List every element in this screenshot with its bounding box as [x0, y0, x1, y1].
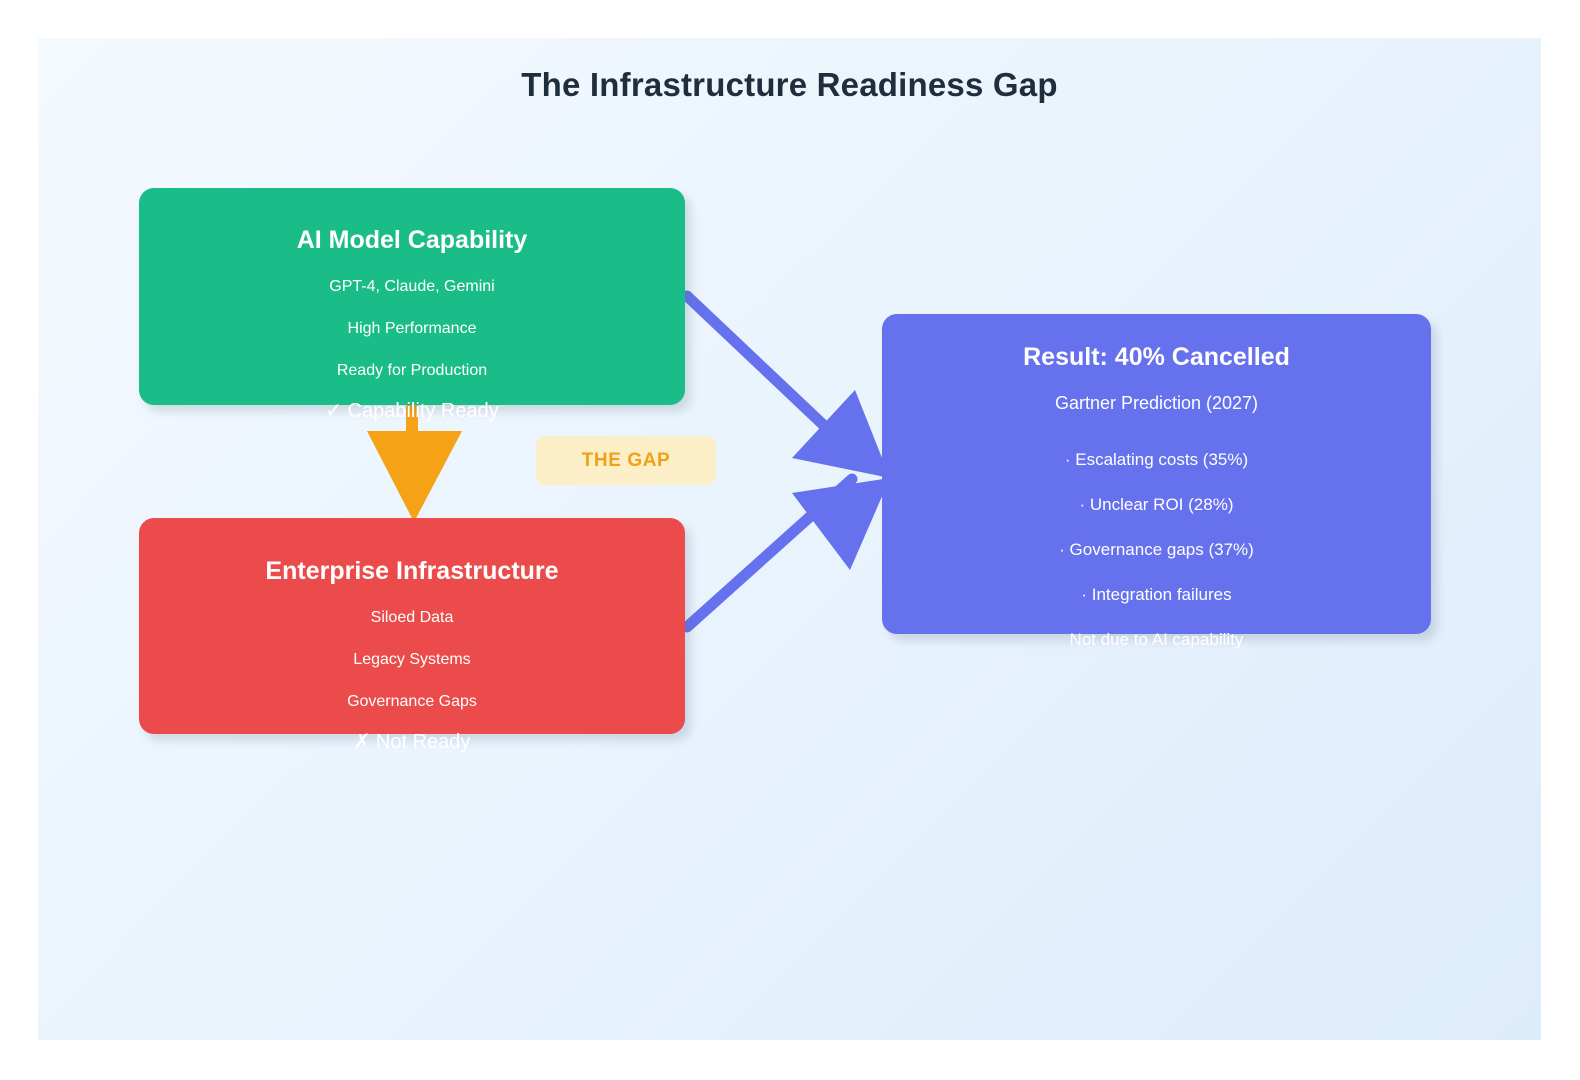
- result-item-3: · Integration failures: [882, 586, 1431, 603]
- infrastructure-arrow-line: [687, 479, 852, 627]
- gap-label-text: THE GAP: [582, 450, 671, 472]
- node-line-capability-1: High Performance: [139, 321, 685, 337]
- node-result-cancelled[interactable]: Result: 40% Cancelled Gartner Prediction…: [882, 314, 1431, 634]
- node-subtitle-result: Gartner Prediction (2027): [882, 394, 1431, 412]
- infrastructure-arrow-head: [792, 478, 890, 570]
- node-title-result: Result: 40% Cancelled: [882, 345, 1431, 370]
- node-line-infrastructure-1: Legacy Systems: [139, 652, 685, 668]
- result-item-1: · Unclear ROI (28%): [882, 496, 1431, 513]
- capability-arrow-head: [792, 390, 890, 478]
- result-footnote: Not due to AI capability: [882, 631, 1431, 648]
- node-line-capability-0: GPT-4, Claude, Gemini: [139, 279, 685, 295]
- result-item-0: · Escalating costs (35%): [882, 451, 1431, 468]
- capability-arrow-line: [687, 296, 852, 452]
- diagram-canvas: The Infrastructure Readiness Gap AI Mode…: [38, 38, 1541, 1040]
- page-title: The Infrastructure Readiness Gap: [38, 66, 1541, 104]
- gap-down-arrow: [367, 408, 462, 522]
- gap-arrow-head: [367, 431, 462, 522]
- node-title-infrastructure: Enterprise Infrastructure: [139, 559, 685, 584]
- node-line-capability-2: Ready for Production: [139, 363, 685, 379]
- status-badge-capability-ready: ✓ Capability Ready: [139, 401, 685, 421]
- node-ai-model-capability[interactable]: AI Model Capability GPT-4, Claude, Gemin…: [139, 188, 685, 405]
- node-line-infrastructure-0: Siloed Data: [139, 610, 685, 626]
- node-line-infrastructure-2: Governance Gaps: [139, 694, 685, 710]
- node-title-capability: AI Model Capability: [139, 228, 685, 253]
- node-enterprise-infrastructure[interactable]: Enterprise Infrastructure Siloed Data Le…: [139, 518, 685, 734]
- infrastructure-to-result-arrow: [687, 478, 890, 627]
- gap-label-badge: THE GAP: [536, 436, 716, 485]
- result-item-2: · Governance gaps (37%): [882, 541, 1431, 558]
- status-badge-not-ready: ✗ Not Ready: [139, 732, 685, 752]
- capability-to-result-arrow: [687, 296, 890, 478]
